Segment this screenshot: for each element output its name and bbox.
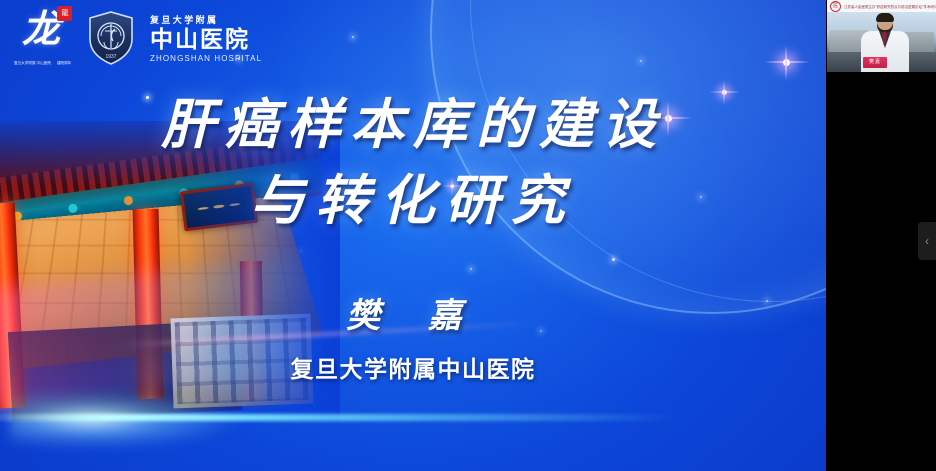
logo-bar: 龙 龍 复旦大学附属 中山医院 建院周年 1937-2022 bbox=[12, 6, 262, 70]
anniversary-logo-subtext: 复旦大学附属 中山医院 建院周年 1937-2022 bbox=[14, 56, 72, 70]
speaker-video-panel[interactable]: 医 江苏省人民医院主办"肝癌研究热点与前沿进展论坛"学术研讨会 樊嘉 bbox=[827, 0, 936, 72]
video-banner: 医 江苏省人民医院主办"肝癌研究热点与前沿进展论坛"学术研讨会 bbox=[827, 0, 936, 12]
collapse-panel-handle[interactable]: ‹ bbox=[918, 222, 936, 260]
sky-arc-secondary-decoration bbox=[470, 0, 826, 302]
sky-arc-decoration bbox=[430, 0, 826, 314]
screen-root: 龙 龍 复旦大学附属 中山医院 建院周年 1937-2022 bbox=[0, 0, 936, 471]
presentation-slide[interactable]: 龙 龍 复旦大学附属 中山医院 建院周年 1937-2022 bbox=[0, 0, 826, 471]
hospital-name-en-text: ZHONGSHAN HOSPITAL bbox=[150, 54, 262, 63]
chevron-left-icon: ‹ bbox=[925, 235, 929, 247]
anniversary-subtext-left: 复旦大学附属 中山医院 bbox=[14, 61, 51, 65]
zhongshan-hospital-shield-icon: 1937 bbox=[88, 11, 134, 65]
anniversary-logo: 龙 龍 复旦大学附属 中山医院 建院周年 1937-2022 bbox=[12, 6, 74, 70]
video-scene: 樊嘉 bbox=[827, 12, 936, 72]
red-seal-icon: 龍 bbox=[57, 6, 72, 21]
anniversary-subtext-right: 建院周年 1937-2022 bbox=[57, 61, 72, 65]
speaker-nametag: 樊嘉 bbox=[863, 57, 887, 68]
hospital-affiliation-text: 复旦大学附属 bbox=[150, 13, 262, 26]
temple-architecture-photo bbox=[0, 121, 322, 421]
video-banner-text: 江苏省人民医院主办"肝癌研究热点与前沿进展论坛"学术研讨会 bbox=[844, 4, 936, 9]
hospital-name-text: 中山医院 bbox=[150, 27, 262, 51]
hospital-name-block: 复旦大学附属 中山医院 ZHONGSHAN HOSPITAL bbox=[150, 13, 262, 62]
svg-text:1937: 1937 bbox=[105, 54, 116, 60]
speaker-hair bbox=[876, 13, 894, 22]
conference-emblem-icon: 医 bbox=[830, 1, 841, 12]
